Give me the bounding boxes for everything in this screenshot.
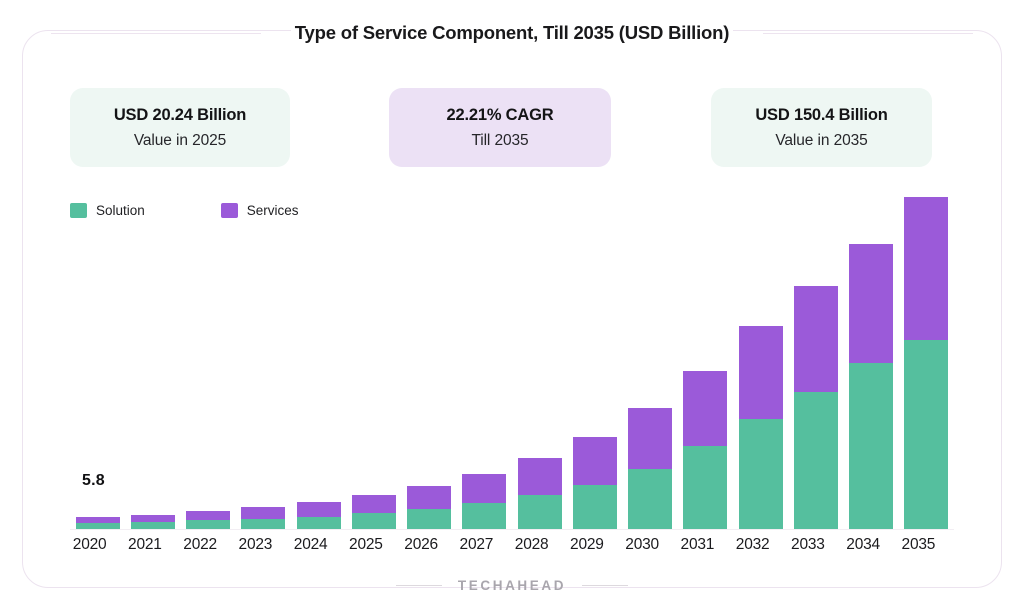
bar-2023[interactable] <box>241 507 285 530</box>
bar-segment-solution[interactable] <box>683 446 727 530</box>
page-title: Type of Service Component, Till 2035 (US… <box>291 22 733 44</box>
stat-box-row: USD 20.24 Billion Value in 2025 22.21% C… <box>70 88 954 167</box>
bar-segment-services[interactable] <box>241 507 285 519</box>
stat-value: USD 150.4 Billion <box>755 106 887 125</box>
stat-box-value-2025: USD 20.24 Billion Value in 2025 <box>70 88 290 167</box>
bar-2025[interactable] <box>352 495 396 530</box>
bar-2034[interactable] <box>849 244 893 531</box>
x-tick-2035: 2035 <box>888 536 948 554</box>
stat-value: 22.21% CAGR <box>447 106 554 125</box>
brand-logo: TECHAHEAD <box>458 578 566 593</box>
bar-2028[interactable] <box>518 458 562 530</box>
x-tick-2027: 2027 <box>446 536 506 554</box>
bar-segment-services[interactable] <box>683 371 727 446</box>
bar-segment-services[interactable] <box>518 458 562 495</box>
x-tick-2021: 2021 <box>115 536 175 554</box>
x-tick-2023: 2023 <box>225 536 285 554</box>
bar-segment-services[interactable] <box>573 437 617 485</box>
x-tick-2025: 2025 <box>336 536 396 554</box>
title-rule-left <box>51 33 261 34</box>
plot-area: 5.8 <box>70 190 954 530</box>
bar-segment-services[interactable] <box>131 515 175 522</box>
bar-segment-solution[interactable] <box>794 392 838 530</box>
bar-segment-services[interactable] <box>628 408 672 469</box>
bar-segment-services[interactable] <box>794 286 838 392</box>
title-rule-right <box>763 33 973 34</box>
x-axis-line <box>70 529 954 531</box>
x-tick-2029: 2029 <box>557 536 617 554</box>
x-tick-2033: 2033 <box>778 536 838 554</box>
first-value-annotation: 5.8 <box>82 472 105 490</box>
bar-segment-solution[interactable] <box>352 513 396 530</box>
x-tick-2022: 2022 <box>170 536 230 554</box>
bar-segment-solution[interactable] <box>739 419 783 530</box>
stat-label: Value in 2025 <box>134 132 226 150</box>
bar-2033[interactable] <box>794 286 838 530</box>
bar-segment-services[interactable] <box>352 495 396 513</box>
x-tick-2020: 2020 <box>60 536 120 554</box>
footer-rule-right <box>582 585 628 586</box>
bar-segment-solution[interactable] <box>573 485 617 530</box>
bar-2032[interactable] <box>739 326 783 530</box>
bar-segment-solution[interactable] <box>628 469 672 530</box>
bar-segment-solution[interactable] <box>849 363 893 530</box>
footer: TECHAHEAD <box>0 578 1024 593</box>
x-tick-2031: 2031 <box>667 536 727 554</box>
stat-value: USD 20.24 Billion <box>114 106 246 125</box>
stat-box-value-2035: USD 150.4 Billion Value in 2035 <box>711 88 932 167</box>
bar-segment-services[interactable] <box>297 502 341 517</box>
bar-segment-solution[interactable] <box>518 495 562 530</box>
chart-canvas: Type of Service Component, Till 2035 (US… <box>0 0 1024 609</box>
bar-segment-solution[interactable] <box>462 503 506 530</box>
bar-2027[interactable] <box>462 474 506 530</box>
bar-segment-services[interactable] <box>407 486 451 509</box>
bar-segment-services[interactable] <box>462 474 506 503</box>
bar-2030[interactable] <box>628 408 672 530</box>
title-row: Type of Service Component, Till 2035 (US… <box>0 18 1024 48</box>
bar-segment-services[interactable] <box>849 244 893 364</box>
x-tick-2032: 2032 <box>723 536 783 554</box>
bar-2024[interactable] <box>297 502 341 530</box>
x-tick-2024: 2024 <box>281 536 341 554</box>
bar-2022[interactable] <box>186 511 230 530</box>
x-axis-labels: 2020202120222023202420252026202720282029… <box>70 536 954 560</box>
bar-segment-solution[interactable] <box>407 509 451 530</box>
bar-2035[interactable] <box>904 197 948 530</box>
x-tick-2030: 2030 <box>612 536 672 554</box>
bar-segment-services[interactable] <box>904 197 948 340</box>
x-tick-2026: 2026 <box>391 536 451 554</box>
bar-2031[interactable] <box>683 371 727 530</box>
x-tick-2028: 2028 <box>502 536 562 554</box>
stat-label: Till 2035 <box>471 132 528 150</box>
stat-box-cagr: 22.21% CAGR Till 2035 <box>389 88 611 167</box>
footer-rule-left <box>396 585 442 586</box>
stat-label: Value in 2035 <box>775 132 867 150</box>
bar-segment-services[interactable] <box>186 511 230 521</box>
bar-segment-solution[interactable] <box>904 340 948 530</box>
bar-segment-services[interactable] <box>739 326 783 419</box>
bar-2026[interactable] <box>407 486 451 530</box>
bar-2029[interactable] <box>573 437 617 530</box>
x-tick-2034: 2034 <box>833 536 893 554</box>
